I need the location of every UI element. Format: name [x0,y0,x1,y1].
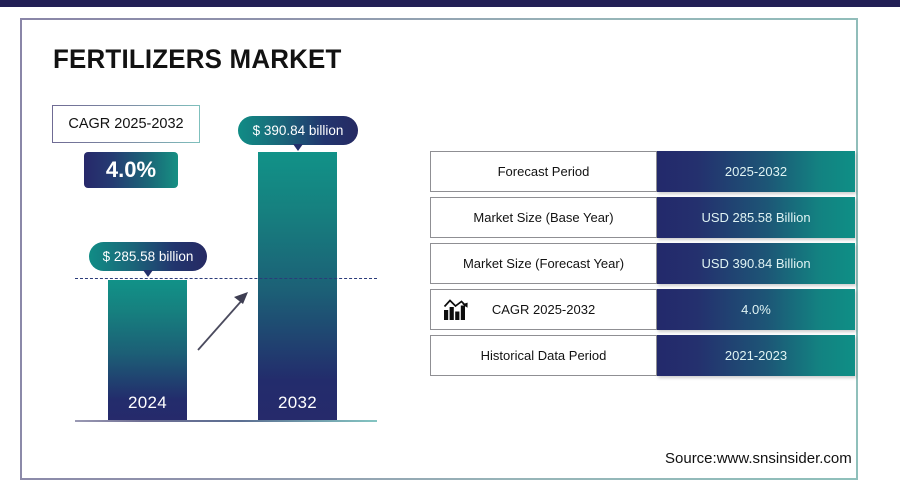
table-row-value-cell: 2021-2023 [657,335,855,376]
bar-value-label-2024: $ 285.58 billion [103,249,194,264]
bar-value-bubble-2032: $ 390.84 billion [238,116,358,145]
bar-2024: 2024 [108,280,187,421]
table-row: CAGR 2025-2032 4.0% [430,289,855,330]
table-row: Historical Data Period 2021-2023 [430,335,855,376]
table-row-label-cell: Forecast Period [430,151,657,192]
source-attribution: Source:www.snsinsider.com [665,450,852,467]
table-row-value: 2025-2032 [725,164,787,179]
table-row: Market Size (Base Year) USD 285.58 Billi… [430,197,855,238]
table-row-label-cell: CAGR 2025-2032 [430,289,657,330]
chart-baseline-axis [75,420,377,422]
table-row-label-cell: Market Size (Forecast Year) [430,243,657,284]
table-row-value: 2021-2023 [725,348,787,363]
table-row-value: 4.0% [741,302,771,317]
summary-table: Forecast Period 2025-2032 Market Size (B… [430,151,855,381]
table-row-label: Forecast Period [498,164,590,179]
page-title: FERTILIZERS MARKET [53,44,342,75]
table-row: Market Size (Forecast Year) USD 390.84 B… [430,243,855,284]
table-row-value-cell: 2025-2032 [657,151,855,192]
table-row-label: Market Size (Base Year) [473,210,613,225]
cagr-value-label: 4.0% [106,157,156,183]
cagr-period-box: CAGR 2025-2032 [52,105,200,143]
top-accent-strip [0,0,900,7]
table-row-label-cell: Market Size (Base Year) [430,197,657,238]
table-row-value-cell: 4.0% [657,289,855,330]
table-row-label-cell: Historical Data Period [430,335,657,376]
bar-category-label-2024: 2024 [108,393,187,413]
bar-2032: 2032 [258,152,337,421]
bar-value-label-2032: $ 390.84 billion [253,123,344,138]
reference-dashed-line [75,278,377,279]
infographic-canvas: FERTILIZERS MARKET CAGR 2025-2032 4.0% $… [0,0,900,500]
bar-value-bubble-2024: $ 285.58 billion [89,242,207,271]
table-row-value: USD 390.84 Billion [701,256,810,271]
cagr-value-badge: 4.0% [84,152,178,188]
bar-chart-trend-icon [443,299,469,321]
table-row-value-cell: USD 390.84 Billion [657,243,855,284]
table-row: Forecast Period 2025-2032 [430,151,855,192]
cagr-period-label: CAGR 2025-2032 [68,116,183,132]
table-row-label: Historical Data Period [481,348,607,363]
bar-category-label-2032: 2032 [258,393,337,413]
table-row-label: Market Size (Forecast Year) [463,256,624,271]
table-row-value: USD 285.58 Billion [701,210,810,225]
table-row-value-cell: USD 285.58 Billion [657,197,855,238]
table-row-label: CAGR 2025-2032 [492,302,595,317]
